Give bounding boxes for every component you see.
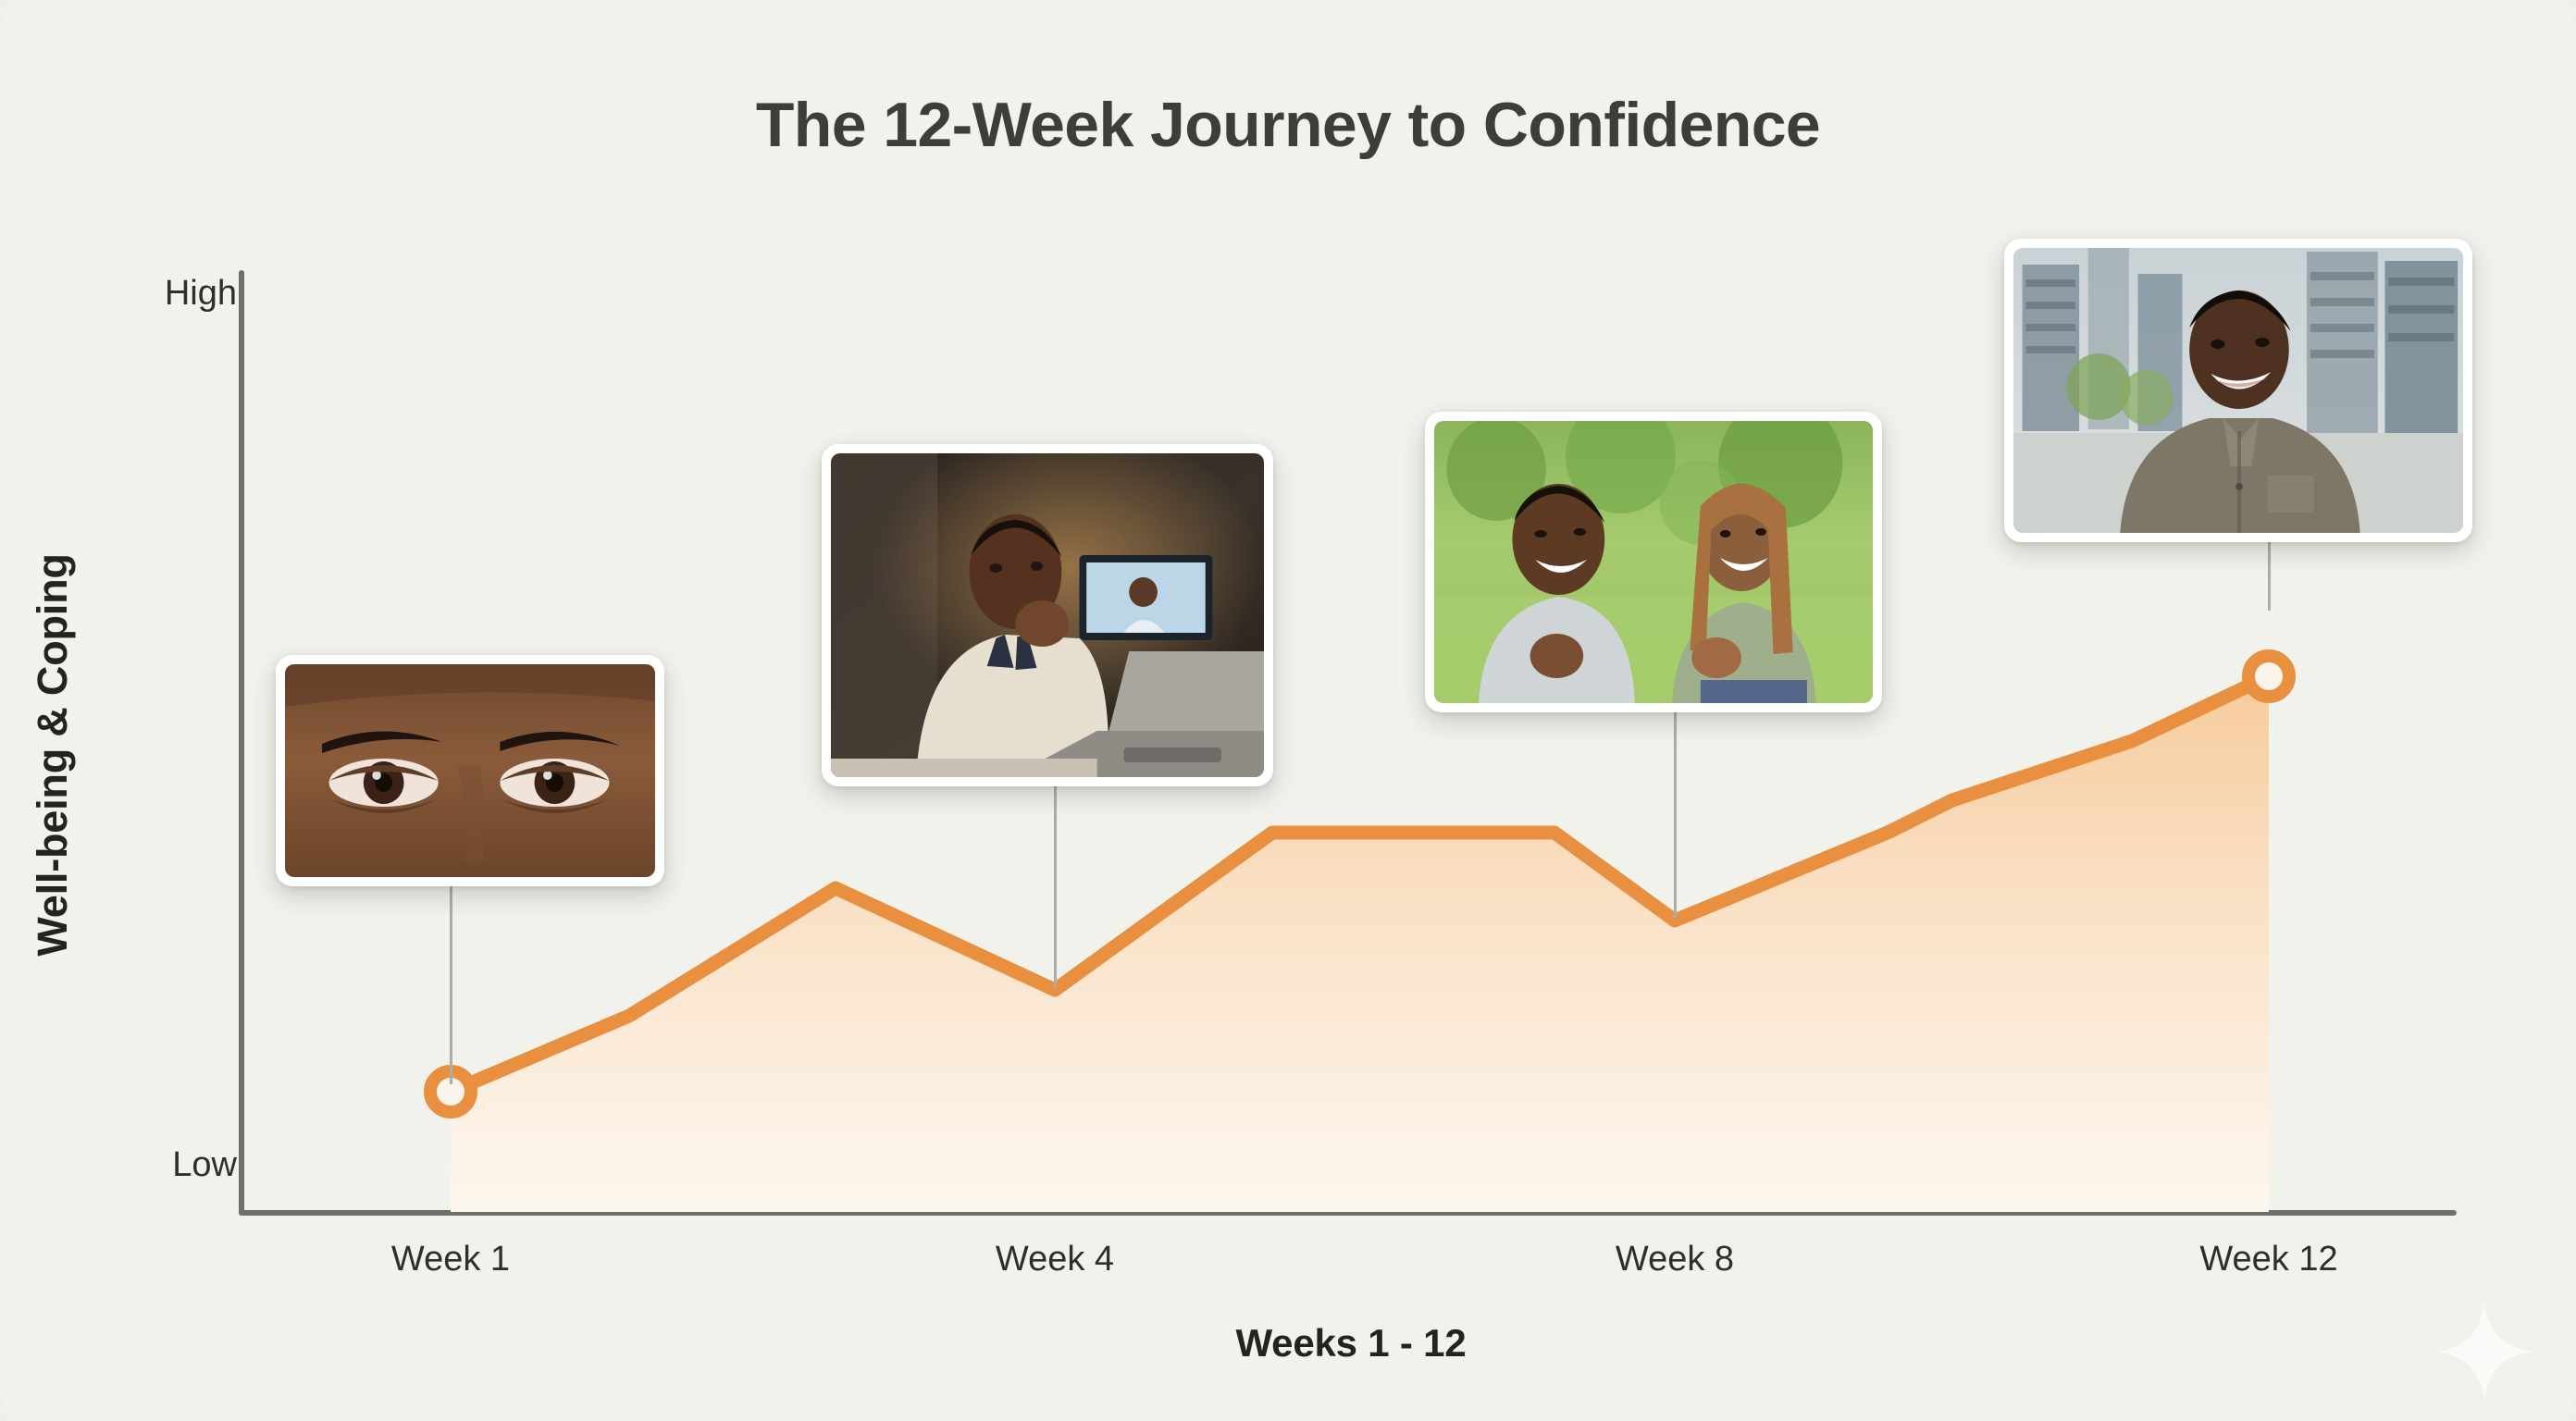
data-point-marker-week-12[interactable]: [2248, 656, 2289, 697]
chart-canvas: The 12-Week Journey to Confidence High L…: [0, 0, 2576, 1421]
connector-line-week-8: [1674, 708, 1677, 919]
x-axis-title: Weeks 1 - 12: [244, 1321, 2458, 1365]
photo-evening-video-call-image: [831, 453, 1264, 777]
photo-card-week-12[interactable]: [2004, 239, 2472, 542]
x-axis-tick-week-1: Week 1: [266, 1240, 636, 1279]
photo-tired-eyes-image: [285, 664, 655, 877]
y-axis-tick-low: Low: [172, 1145, 237, 1185]
connector-line-week-1: [450, 879, 452, 1084]
x-axis-tick-week-4: Week 4: [870, 1240, 1240, 1279]
x-axis-tick-week-12: Week 12: [2084, 1240, 2454, 1279]
page-title: The 12-Week Journey to Confidence: [0, 89, 2576, 161]
photo-card-week-8[interactable]: [1425, 412, 1882, 712]
photo-confident-portrait-image: [2013, 248, 2463, 533]
x-axis-tick-week-8: Week 8: [1490, 1240, 1860, 1279]
connector-line-week-12: [2268, 537, 2271, 611]
photo-card-week-4[interactable]: [822, 444, 1273, 786]
photo-friends-laughing-image: [1434, 421, 1873, 703]
y-axis-tick-high: High: [165, 274, 237, 314]
sparkle-icon: [2434, 1301, 2535, 1402]
y-axis-title: Well-being & Coping: [29, 459, 77, 1051]
area-fill: [451, 676, 2269, 1212]
connector-line-week-4: [1054, 786, 1057, 988]
photo-card-week-1[interactable]: [276, 655, 664, 886]
